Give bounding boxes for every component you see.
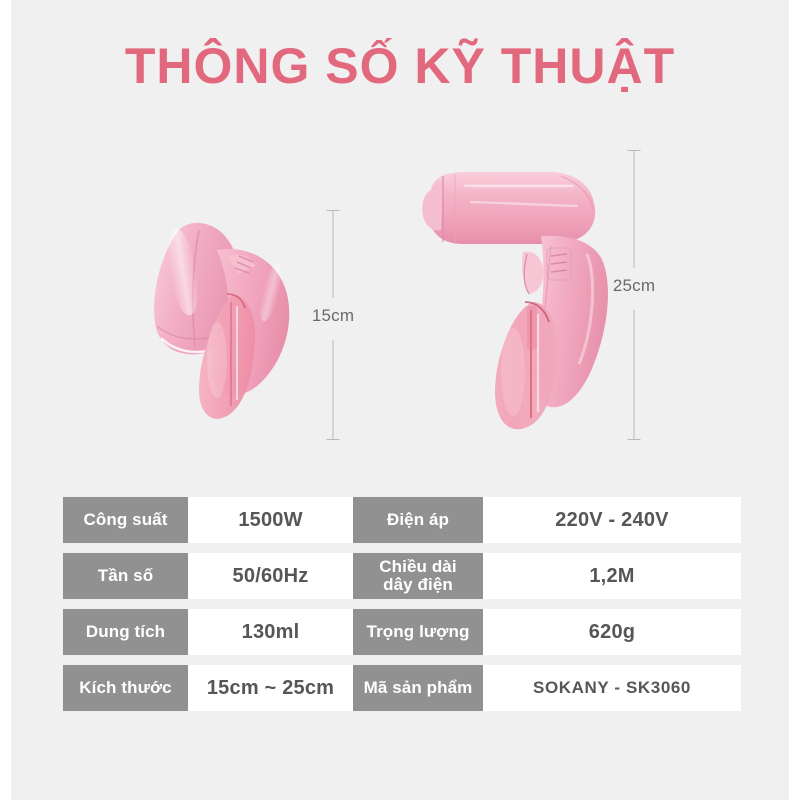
spec-value-voltage: 220V - 240V xyxy=(483,497,741,543)
product-spec-infographic: THÔNG SỐ KỸ THUẬT xyxy=(0,0,800,800)
steamer-trigger-extended xyxy=(522,252,543,294)
table-row: Tần số 50/60Hz Chiều dài dây điện 1,2M xyxy=(63,553,741,599)
dimension-ruler-25cm: 25cm xyxy=(599,150,669,440)
ruler-label-25cm: 25cm xyxy=(613,276,655,296)
spec-value-capacity: 130ml xyxy=(188,609,353,655)
spec-value-cord-length: 1,2M xyxy=(483,553,741,599)
spec-label-cord-length: Chiều dài dây điện xyxy=(353,553,483,599)
ruler-line-lower xyxy=(333,340,334,439)
specification-table: Công suất 1500W Điện áp 220V - 240V Tần … xyxy=(63,497,741,711)
spec-label-cord-length-line1: Chiều dài xyxy=(379,558,456,576)
ruler-cap-bottom xyxy=(327,439,340,440)
spec-label-voltage: Điện áp xyxy=(353,497,483,543)
spec-value-weight: 620g xyxy=(483,609,741,655)
spec-label-cord-length-line2: dây điện xyxy=(379,576,456,594)
spec-label-size: Kích thước xyxy=(63,665,188,711)
table-row: Công suất 1500W Điện áp 220V - 240V xyxy=(63,497,741,543)
ruler-line-upper xyxy=(634,150,635,268)
ruler-label-15cm: 15cm xyxy=(312,306,354,326)
ruler-cap-bottom xyxy=(628,439,641,440)
spec-value-size: 15cm ~ 25cm xyxy=(188,665,353,711)
spec-value-frequency: 50/60Hz xyxy=(188,553,353,599)
page-title: THÔNG SỐ KỸ THUẬT xyxy=(11,38,789,96)
canvas-background: THÔNG SỐ KỸ THUẬT xyxy=(11,0,789,800)
table-row: Kích thước 15cm ~ 25cm Mã sản phẩm SOKAN… xyxy=(63,665,741,711)
spec-label-weight: Trọng lượng xyxy=(353,609,483,655)
spec-label-frequency: Tần số xyxy=(63,553,188,599)
steamer-water-tank-extended xyxy=(495,302,557,429)
product-image-steamer-folded xyxy=(121,210,321,440)
spec-value-power: 1500W xyxy=(188,497,353,543)
steamer-head-extended xyxy=(422,172,595,244)
spec-label-capacity: Dung tích xyxy=(63,609,188,655)
ruler-line-lower xyxy=(634,310,635,439)
dimension-ruler-15cm: 15cm xyxy=(298,210,368,440)
spec-value-model: SOKANY - SK3060 xyxy=(483,665,741,711)
spec-label-power: Công suất xyxy=(63,497,188,543)
table-row: Dung tích 130ml Trọng lượng 620g xyxy=(63,609,741,655)
product-illustrations: 15cm 25cm xyxy=(11,140,789,470)
ruler-line-upper xyxy=(333,210,334,298)
spec-label-model: Mã sản phẩm xyxy=(353,665,483,711)
